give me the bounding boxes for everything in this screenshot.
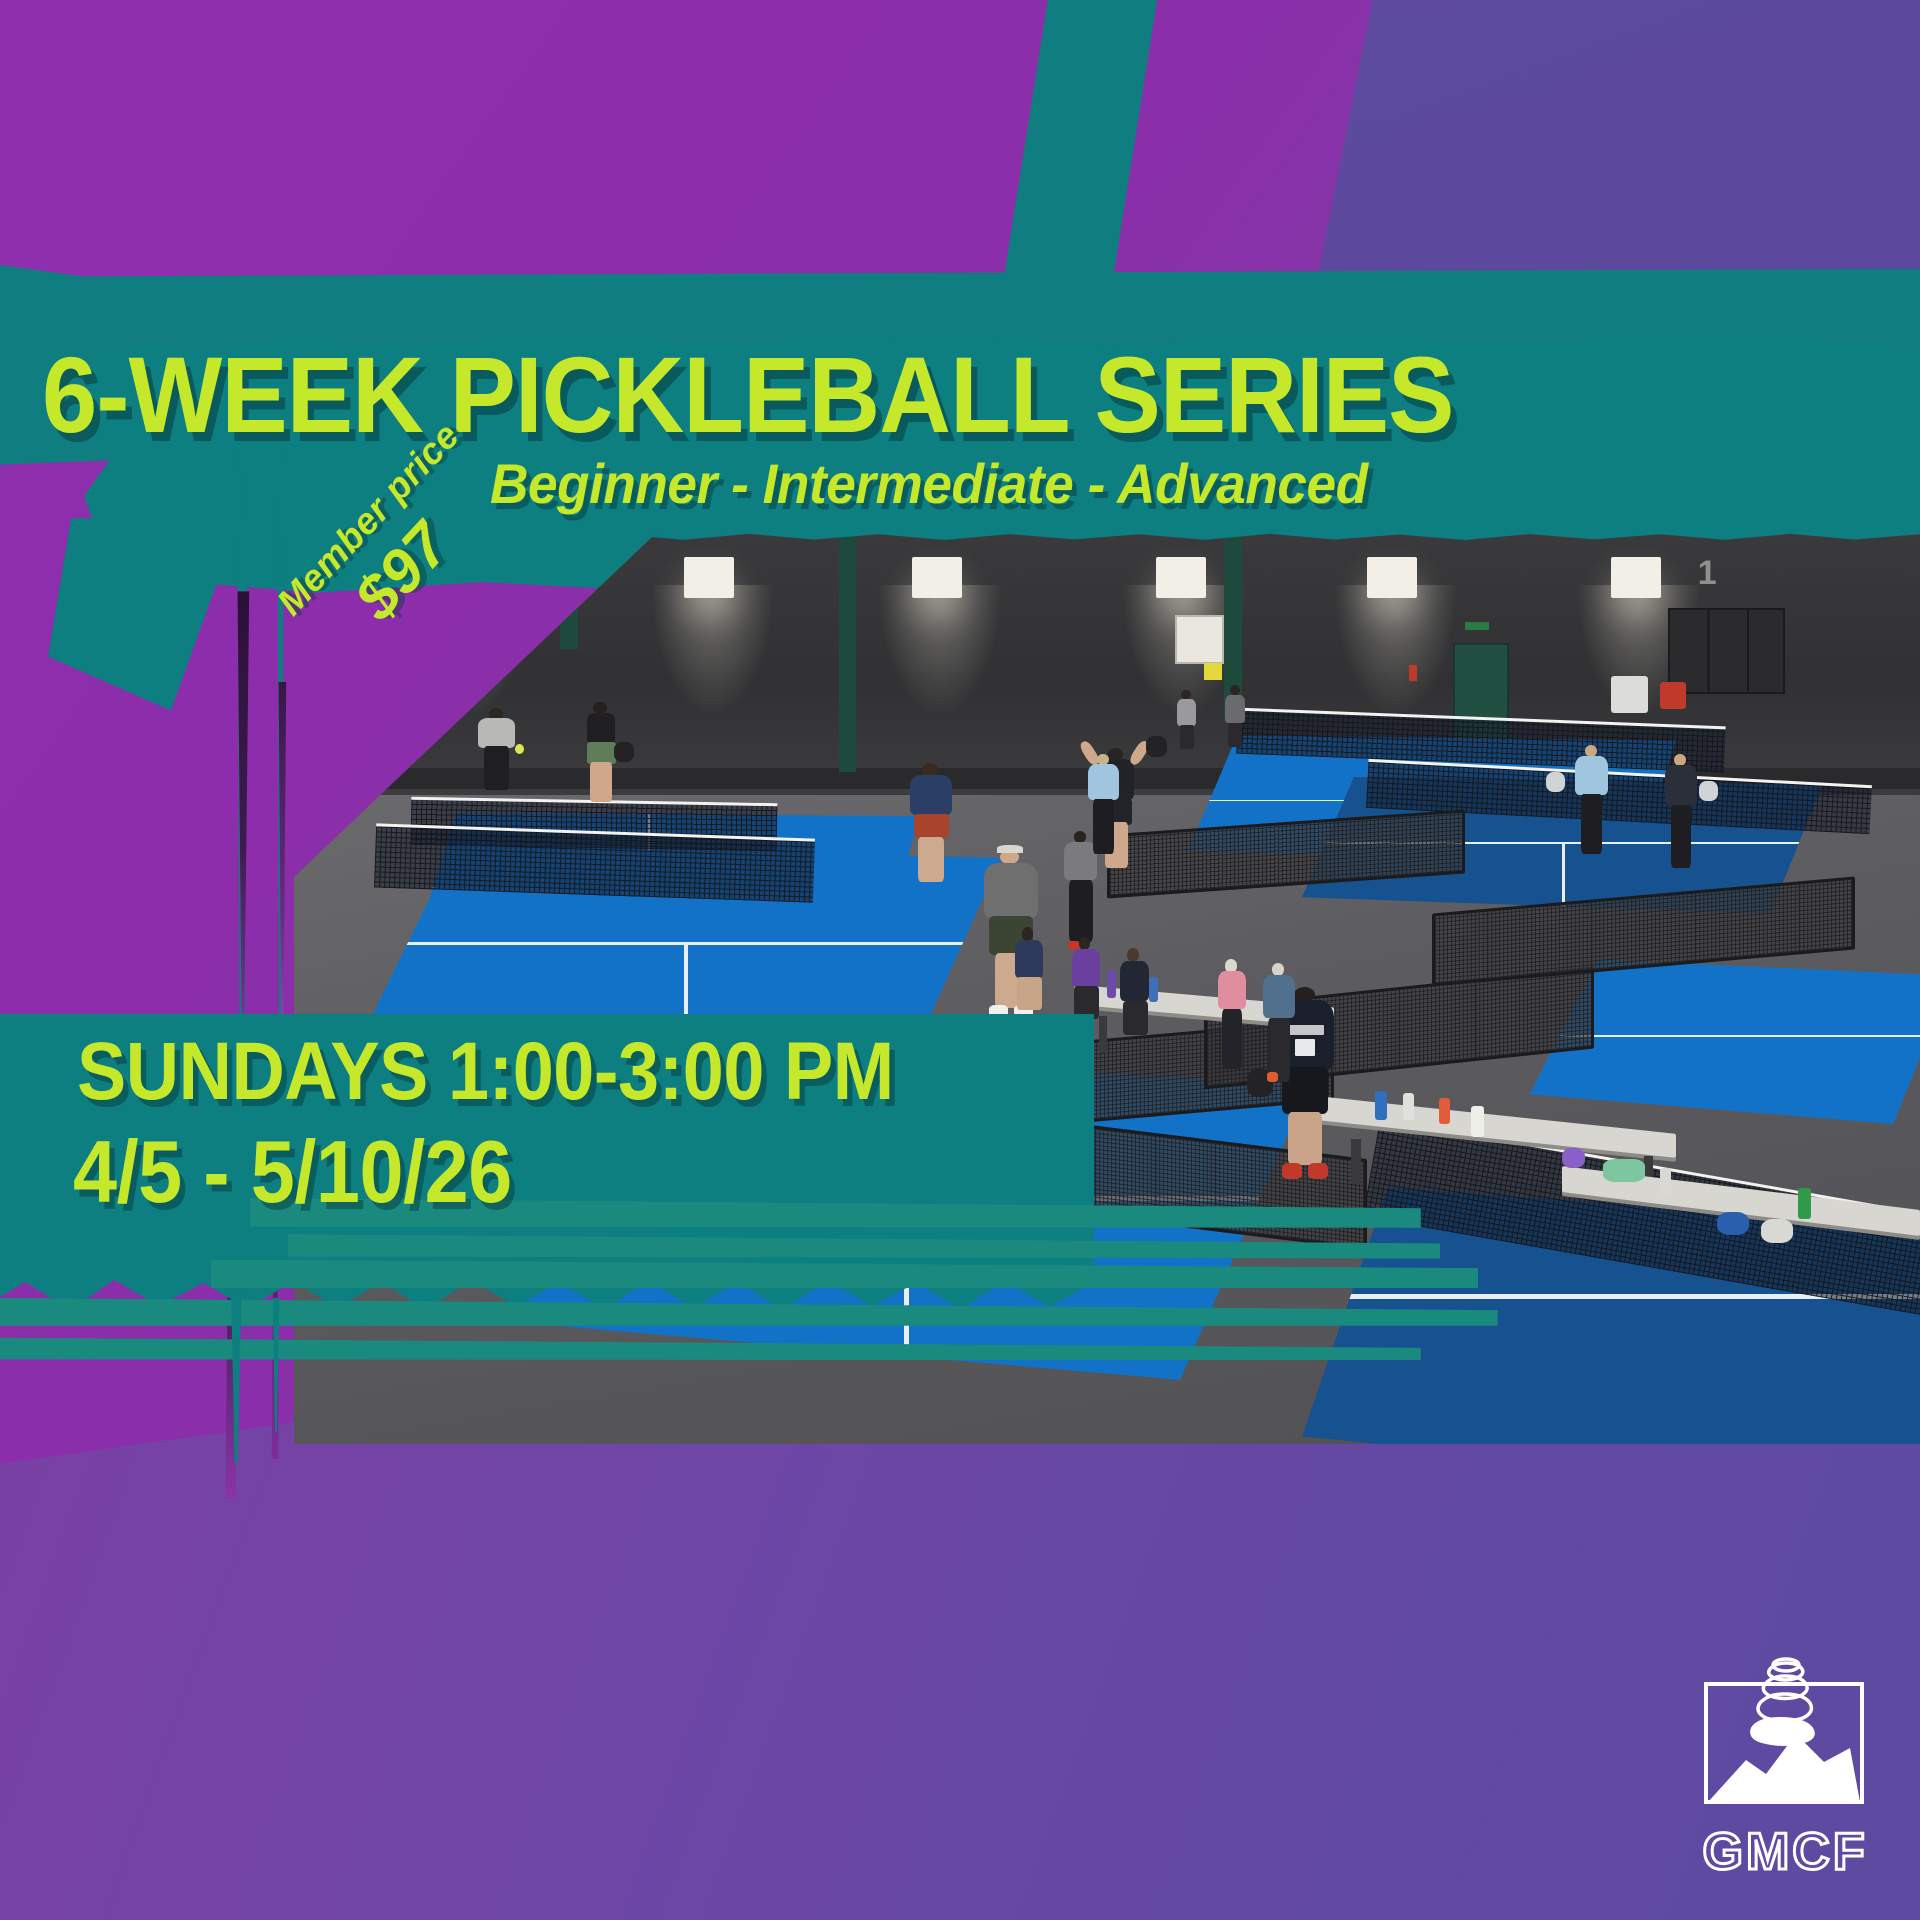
- paddle: [1546, 772, 1566, 792]
- page-subtitle: Beginner - Intermediate - Advanced: [490, 451, 1368, 516]
- page-title: 6-WEEK PICKLEBALL SERIES: [42, 338, 1738, 451]
- spectator-standing-blue: [1258, 963, 1300, 1082]
- paddle: [614, 742, 634, 762]
- water-bottle: [1439, 1098, 1450, 1124]
- table-leg: [1099, 1016, 1107, 1053]
- wall-pillar-1: [839, 534, 857, 772]
- storage-bin: [1611, 676, 1648, 713]
- exit-sign-icon: [1465, 622, 1489, 630]
- baseball-cap-icon: [997, 845, 1023, 853]
- wall-light-4: [1156, 557, 1206, 597]
- table-leg: [1351, 1139, 1361, 1185]
- gmcf-wordmark: GMCF: [1700, 1822, 1870, 1882]
- person-back-wall-1: [1172, 690, 1201, 749]
- spectator-seated-2: [1066, 937, 1105, 1019]
- court-number-wall-right: 1: [1698, 554, 1717, 593]
- wall-yellow-flag: [1204, 663, 1222, 679]
- player-lightblue-rear: [1082, 754, 1124, 855]
- storage-shelf: [1668, 608, 1785, 695]
- red-bag: [1660, 682, 1686, 709]
- player-lightblue-right-2: [1660, 754, 1702, 868]
- spectator-standing-pink: [1213, 959, 1252, 1069]
- towel: [1603, 1159, 1645, 1183]
- paddle: [1699, 781, 1719, 801]
- water-bottle: [1471, 1106, 1484, 1137]
- gmcf-logo: GMCF: [1700, 1656, 1870, 1882]
- player-lightblue-right-1: [1570, 745, 1612, 855]
- water-bottle: [1798, 1188, 1811, 1219]
- water-bottle: [1375, 1091, 1386, 1120]
- schedule-dates: 4/5 - 5/10/26: [73, 1121, 512, 1223]
- paddle-on-table: [1761, 1219, 1794, 1243]
- wall-light-5: [1367, 557, 1417, 597]
- fire-extinguisher-icon: [1409, 665, 1417, 681]
- water-bottle: [1660, 1168, 1671, 1195]
- wall-whiteboard: [1175, 615, 1224, 664]
- wall-light-glow-3: [879, 585, 1001, 713]
- gear-bag: [1562, 1148, 1585, 1168]
- pickleball: [515, 744, 524, 754]
- wall-light-6: [1611, 557, 1661, 597]
- water-bottle: [1403, 1093, 1414, 1120]
- poster-canvas: 6 1: [0, 0, 1920, 1920]
- schedule-time: SUNDAYS 1:00-3:00 PM: [77, 1025, 894, 1119]
- person-back-wall-2: [1221, 685, 1250, 747]
- paddle-on-table: [1717, 1212, 1750, 1236]
- player-blue-shirt: [904, 763, 959, 882]
- wall-light-2: [684, 557, 734, 597]
- spectator-seated-1: [1009, 927, 1048, 1009]
- paddle: [1146, 736, 1167, 757]
- wall-light-3: [912, 557, 962, 597]
- wall-light-glow-2: [652, 585, 774, 713]
- wall-light-glow-5: [1335, 585, 1457, 713]
- spectator-seated-3: [1115, 948, 1154, 1035]
- cairn-rock-stack-icon: [1700, 1656, 1870, 1816]
